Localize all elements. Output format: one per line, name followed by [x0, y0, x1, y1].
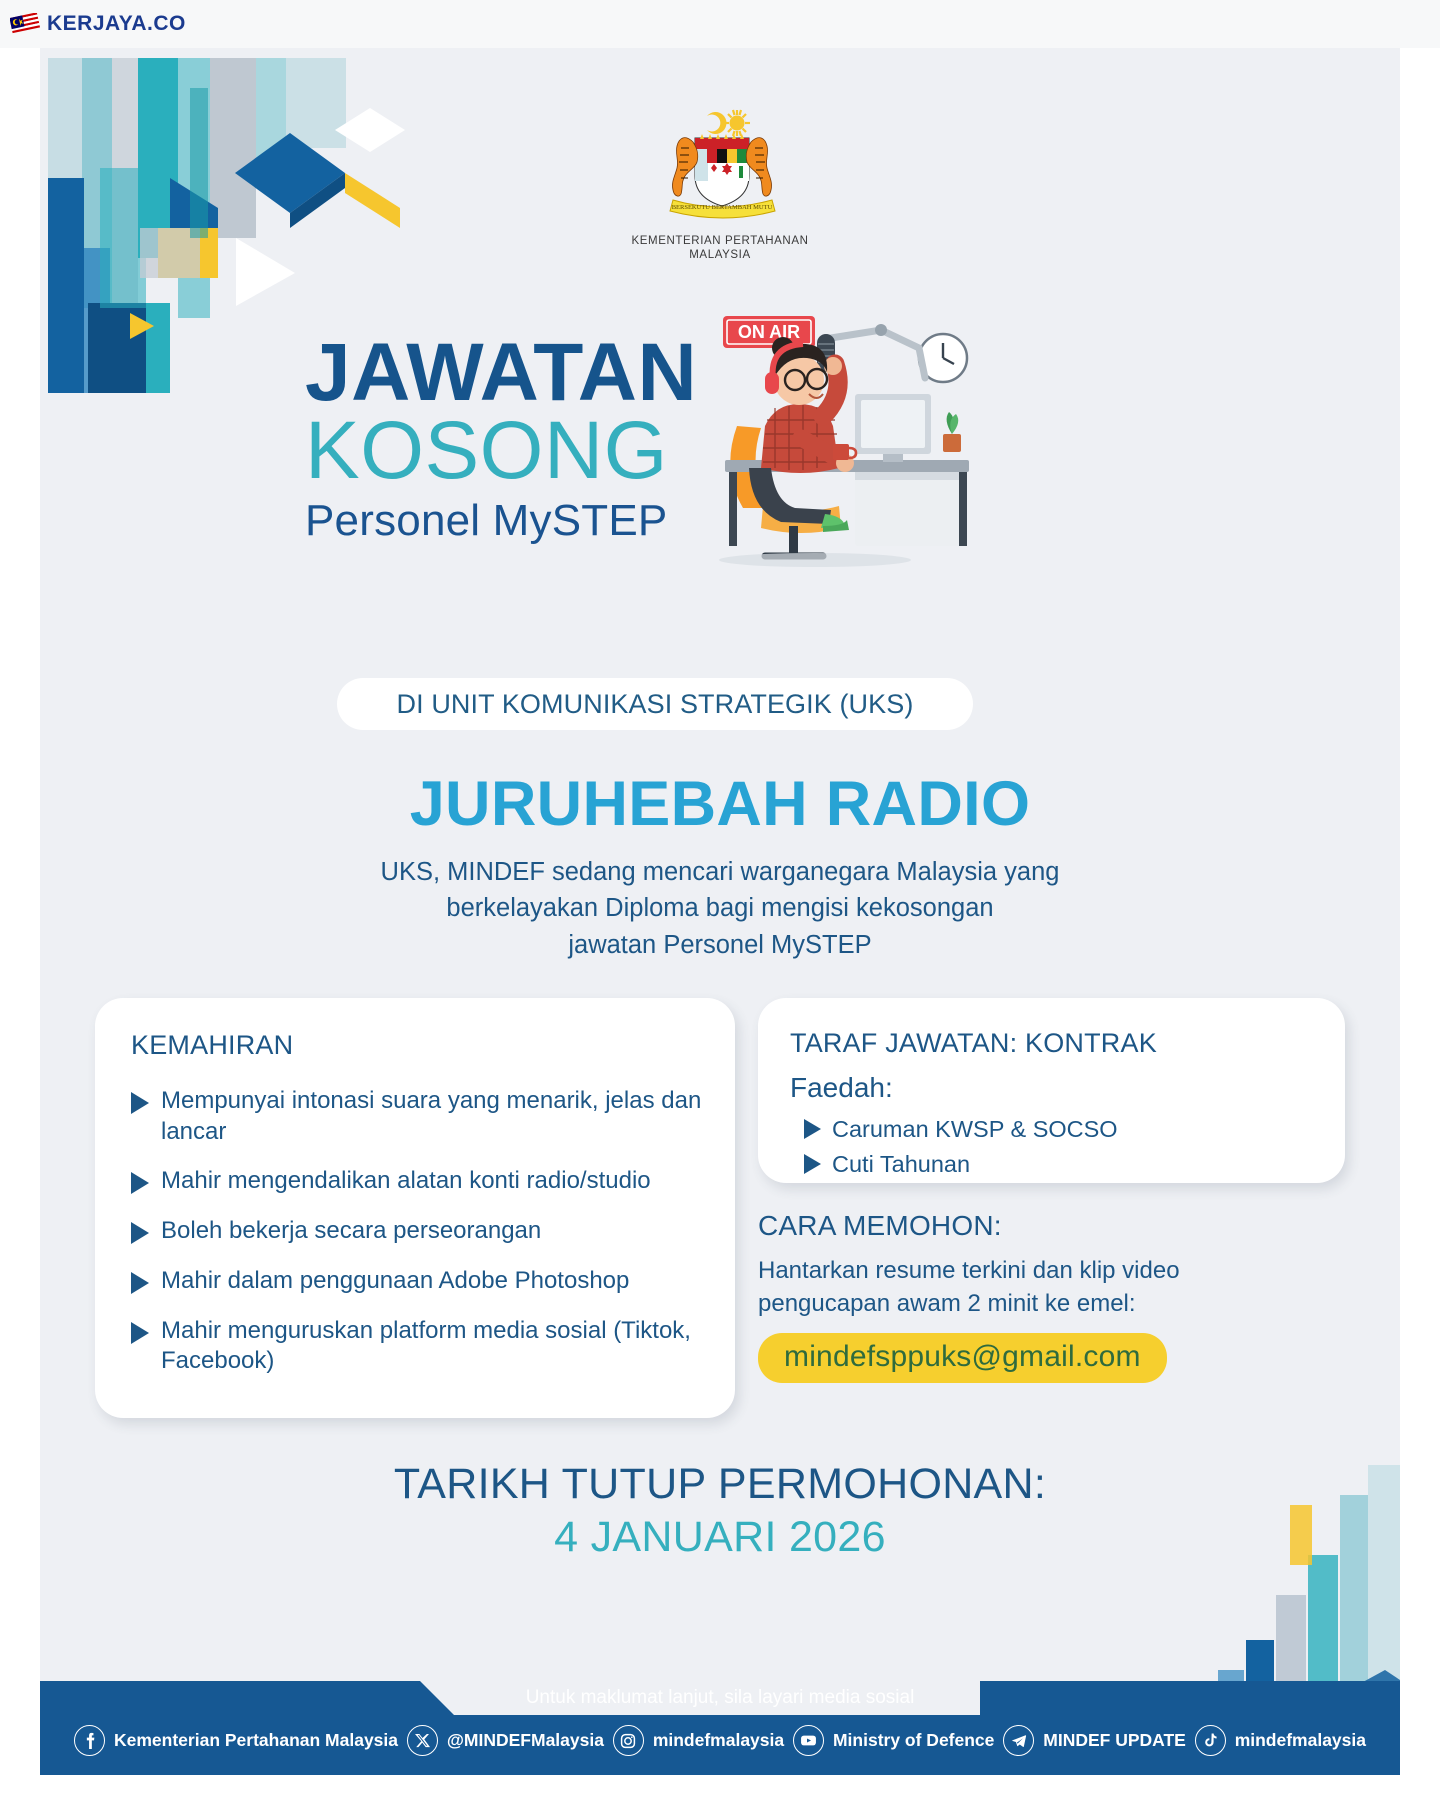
skill-text: Mahir menguruskan platform media sosial … — [161, 1316, 709, 1377]
list-item: Mahir mengendalikan alatan konti radio/s… — [131, 1166, 709, 1197]
skill-text: Mahir dalam penggunaan Adobe Photoshop — [161, 1266, 629, 1297]
ministry-emblem-block: BERSEKUTU BERTAMBAH MUTU KEMENTERIAN PER… — [40, 108, 1400, 263]
svg-text:BERSEKUTU BERTAMBAH MUTU: BERSEKUTU BERTAMBAH MUTU — [672, 204, 773, 211]
on-air-label: ON AIR — [738, 322, 800, 342]
social-label: mindefmalaysia — [653, 1730, 784, 1751]
emblem-caption: KEMENTERIAN PERTAHANAN MALAYSIA — [632, 234, 809, 263]
job-description-line2: berkelayakan Diploma bagi mengisi kekoso… — [40, 890, 1400, 926]
benefit-text: Caruman KWSP & SOCSO — [832, 1114, 1118, 1144]
instagram-icon — [613, 1725, 644, 1756]
social-facebook[interactable]: Kementerian Pertahanan Malaysia — [74, 1725, 398, 1756]
triangle-bullet-icon — [131, 1322, 149, 1344]
emblem-caption-line1: KEMENTERIAN PERTAHANAN — [632, 234, 809, 248]
triangle-bullet-icon — [131, 1092, 149, 1114]
social-links: Kementerian Pertahanan Malaysia @MINDEFM… — [40, 1725, 1400, 1756]
triangle-bullet-icon — [804, 1154, 821, 1174]
closing-date-label: TARIKH TUTUP PERMOHONAN: — [40, 1460, 1400, 1509]
job-title: JURUHEBAH RADIO — [40, 768, 1400, 840]
social-telegram[interactable]: MINDEF UPDATE — [1003, 1725, 1186, 1756]
job-description: UKS, MINDEF sedang mencari warganegara M… — [40, 854, 1400, 963]
status-card: TARAF JAWATAN: KONTRAK Faedah: Caruman K… — [758, 998, 1345, 1183]
job-description-line3: jawatan Personel MySTEP — [40, 927, 1400, 963]
footer-bar: Untuk maklumat lanjut, sila layari media… — [40, 1681, 1400, 1775]
youtube-icon — [793, 1725, 824, 1756]
triangle-bullet-icon — [804, 1119, 821, 1139]
headline-jawatan: JAWATAN — [305, 333, 697, 413]
footer-note: Untuk maklumat lanjut, sila layari media… — [40, 1687, 1400, 1709]
unit-banner-text: DI UNIT KOMUNIKASI STRATEGIK (UKS) — [397, 689, 914, 720]
social-label: Kementerian Pertahanan Malaysia — [114, 1730, 398, 1751]
poster-root: KERJAYA.CO — [0, 0, 1440, 1811]
status-card-heading: TARAF JAWATAN: KONTRAK — [790, 1028, 1157, 1059]
benefits-list: Caruman KWSP & SOCSO Cuti Tahunan — [804, 1114, 1324, 1184]
social-label: MINDEF UPDATE — [1043, 1730, 1186, 1751]
headline-block: JAWATAN KOSONG Personel MySTEP — [305, 333, 697, 546]
unit-banner: DI UNIT KOMUNIKASI STRATEGIK (UKS) — [337, 678, 973, 730]
radio-dj-illustration: ON AIR — [705, 308, 995, 573]
list-item: Mahir dalam penggunaan Adobe Photoshop — [131, 1266, 709, 1297]
x-twitter-icon — [407, 1725, 438, 1756]
bottom-strip — [0, 1775, 1440, 1811]
skill-text: Boleh bekerja secara perseorangan — [161, 1216, 541, 1247]
list-item: Cuti Tahunan — [804, 1149, 1324, 1179]
benefit-text: Cuti Tahunan — [832, 1149, 970, 1179]
social-instagram[interactable]: mindefmalaysia — [613, 1725, 784, 1756]
headline-personel: Personel MySTEP — [305, 496, 697, 546]
watermark-brand: KERJAYA.CO — [47, 12, 186, 36]
social-label: Ministry of Defence — [833, 1730, 994, 1751]
list-item: Caruman KWSP & SOCSO — [804, 1114, 1324, 1144]
skill-text: Mempunyai intonasi suara yang menarik, j… — [161, 1086, 709, 1147]
email-pill[interactable]: mindefsppuks@gmail.com — [758, 1333, 1167, 1383]
emblem-caption-line2: MALAYSIA — [632, 248, 809, 262]
malaysia-coat-of-arms-icon: BERSEKUTU BERTAMBAH MUTU — [645, 108, 795, 228]
list-item: Mempunyai intonasi suara yang menarik, j… — [131, 1086, 709, 1147]
social-label: mindefmalaysia — [1235, 1730, 1366, 1751]
apply-instruction-line1: Hantarkan resume terkini dan klip video — [758, 1254, 1358, 1287]
apply-instruction-line2: pengucapan awam 2 minit ke emel: — [758, 1287, 1358, 1320]
poster-canvas: BERSEKUTU BERTAMBAH MUTU KEMENTERIAN PER… — [40, 48, 1400, 1775]
social-label: @MINDEFMalaysia — [447, 1730, 604, 1751]
tiktok-icon — [1195, 1725, 1226, 1756]
list-item: Mahir menguruskan platform media sosial … — [131, 1316, 709, 1377]
apply-instruction: Hantarkan resume terkini dan klip video … — [758, 1254, 1358, 1320]
skills-card: KEMAHIRAN Mempunyai intonasi suara yang … — [95, 998, 735, 1418]
skills-card-heading: KEMAHIRAN — [131, 1030, 293, 1061]
triangle-bullet-icon — [131, 1172, 149, 1194]
benefits-label: Faedah: — [790, 1072, 893, 1104]
skills-list: Mempunyai intonasi suara yang menarik, j… — [131, 1086, 709, 1377]
email-address[interactable]: mindefsppuks@gmail.com — [784, 1340, 1141, 1373]
triangle-bullet-icon — [131, 1272, 149, 1294]
apply-section: CARA MEMOHON: Hantarkan resume terkini d… — [758, 1210, 1358, 1383]
malaysia-flag-icon — [10, 13, 40, 35]
triangle-bullet-icon — [131, 1222, 149, 1244]
job-description-line1: UKS, MINDEF sedang mencari warganegara M… — [40, 854, 1400, 890]
headline-kosong: KOSONG — [305, 409, 697, 493]
watermark-bar: KERJAYA.CO — [0, 0, 1440, 48]
telegram-icon — [1003, 1725, 1034, 1756]
skill-text: Mahir mengendalikan alatan konti radio/s… — [161, 1166, 651, 1197]
social-x-twitter[interactable]: @MINDEFMalaysia — [407, 1725, 604, 1756]
social-tiktok[interactable]: mindefmalaysia — [1195, 1725, 1366, 1756]
closing-date-block: TARIKH TUTUP PERMOHONAN: 4 JANUARI 2026 — [40, 1460, 1400, 1562]
apply-heading: CARA MEMOHON: — [758, 1210, 1358, 1242]
list-item: Boleh bekerja secara perseorangan — [131, 1216, 709, 1247]
social-youtube[interactable]: Ministry of Defence — [793, 1725, 994, 1756]
closing-date-value: 4 JANUARI 2026 — [40, 1513, 1400, 1562]
facebook-icon — [74, 1725, 105, 1756]
